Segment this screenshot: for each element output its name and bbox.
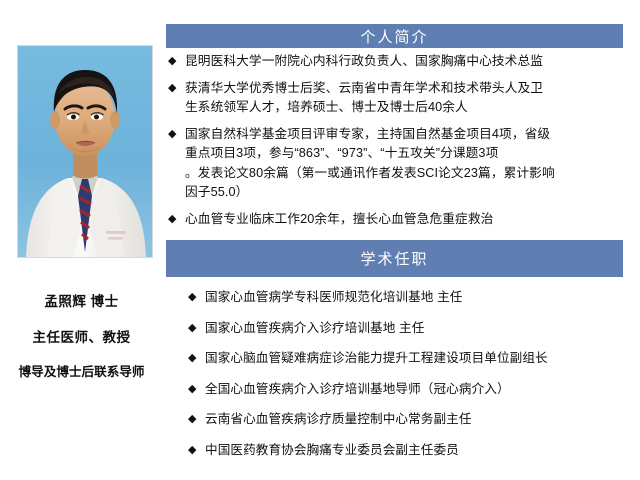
list-item-text: 国家心血管疾病介入诊疗培训基地 主任: [205, 319, 640, 339]
list-item-text: 国家心血管病学专科医师规范化培训基地 主任: [205, 288, 640, 308]
list-item-text: 中国医药教育协会胸痛专业委员会副主任委员: [205, 441, 640, 461]
section-heading-profile: 个人简介: [166, 24, 623, 48]
diamond-bullet-icon: ◆: [188, 349, 197, 369]
diamond-bullet-icon: ◆: [168, 52, 177, 72]
diamond-bullet-icon: ◆: [188, 288, 197, 308]
diamond-bullet-icon: ◆: [188, 441, 197, 461]
list-item: ◆ 获清华大学优秀博士后奖、云南省中青年学术和技术带头人及卫 生系统领军人才，培…: [163, 79, 640, 118]
profile-left-column: 孟照辉 博士 主任医师、教授 博导及博士后联系导师: [0, 0, 163, 480]
diamond-bullet-icon: ◆: [188, 380, 197, 400]
list-item: ◆ 昆明医科大学一附院心内科行政负责人、国家胸痛中心技术总监: [163, 52, 640, 72]
diamond-bullet-icon: ◆: [188, 410, 197, 430]
list-item-text: 国家自然科学基金项目评审专家，主持国自然基金项目4项，省级 重点项目3项，参与“…: [185, 125, 640, 203]
list-item-text: 云南省心血管疾病诊疗质量控制中心常务副主任: [205, 410, 640, 430]
list-item: ◆ 心血管专业临床工作20余年，擅长心血管急危重症救治: [163, 210, 640, 230]
list-item: ◆ 国家自然科学基金项目评审专家，主持国自然基金项目4项，省级 重点项目3项，参…: [163, 125, 640, 203]
list-item: ◆ 中国医药教育协会胸痛专业委员会副主任委员: [163, 441, 640, 461]
list-item: ◆ 国家心血管疾病介入诊疗培训基地 主任: [163, 319, 640, 339]
doctor-name: 孟照辉 博士: [0, 295, 163, 309]
content-right-column: 个人简介 ◆ 昆明医科大学一附院心内科行政负责人、国家胸痛中心技术总监 ◆ 获清…: [163, 0, 640, 480]
positions-bullet-list: ◆ 国家心血管病学专科医师规范化培训基地 主任 ◆ 国家心血管疾病介入诊疗培训基…: [163, 288, 640, 471]
doctor-identity-block: 孟照辉 博士 主任医师、教授 博导及博士后联系导师: [0, 295, 163, 379]
list-item-text: 获清华大学优秀博士后奖、云南省中青年学术和技术带头人及卫 生系统领军人才，培养硕…: [185, 79, 640, 118]
diamond-bullet-icon: ◆: [168, 210, 177, 230]
diamond-bullet-icon: ◆: [168, 125, 177, 145]
list-item-text: 昆明医科大学一附院心内科行政负责人、国家胸痛中心技术总监: [185, 52, 640, 72]
list-item-text: 全国心血管疾病介入诊疗培训基地导师（冠心病介入）: [205, 380, 640, 400]
list-item: ◆ 国家心脑血管疑难病症诊治能力提升工程建设项目单位副组长: [163, 349, 640, 369]
portrait-illustration: [18, 46, 152, 257]
list-item: ◆ 全国心血管疾病介入诊疗培训基地导师（冠心病介入）: [163, 380, 640, 400]
list-item: ◆ 国家心血管病学专科医师规范化培训基地 主任: [163, 288, 640, 308]
profile-bullet-list: ◆ 昆明医科大学一附院心内科行政负责人、国家胸痛中心技术总监 ◆ 获清华大学优秀…: [163, 52, 640, 236]
portrait-photo: [17, 45, 153, 258]
diamond-bullet-icon: ◆: [168, 79, 177, 99]
diamond-bullet-icon: ◆: [188, 319, 197, 339]
doctor-supervisor-role: 博导及博士后联系导师: [0, 366, 163, 379]
doctor-title: 主任医师、教授: [0, 331, 163, 345]
slide-canvas: 孟照辉 博士 主任医师、教授 博导及博士后联系导师 个人简介 ◆ 昆明医科大学一…: [0, 0, 640, 480]
list-item-text: 心血管专业临床工作20余年，擅长心血管急危重症救治: [185, 210, 640, 230]
list-item: ◆ 云南省心血管疾病诊疗质量控制中心常务副主任: [163, 410, 640, 430]
section-heading-positions: 学术任职: [166, 240, 623, 277]
list-item-text: 国家心脑血管疑难病症诊治能力提升工程建设项目单位副组长: [205, 349, 640, 369]
